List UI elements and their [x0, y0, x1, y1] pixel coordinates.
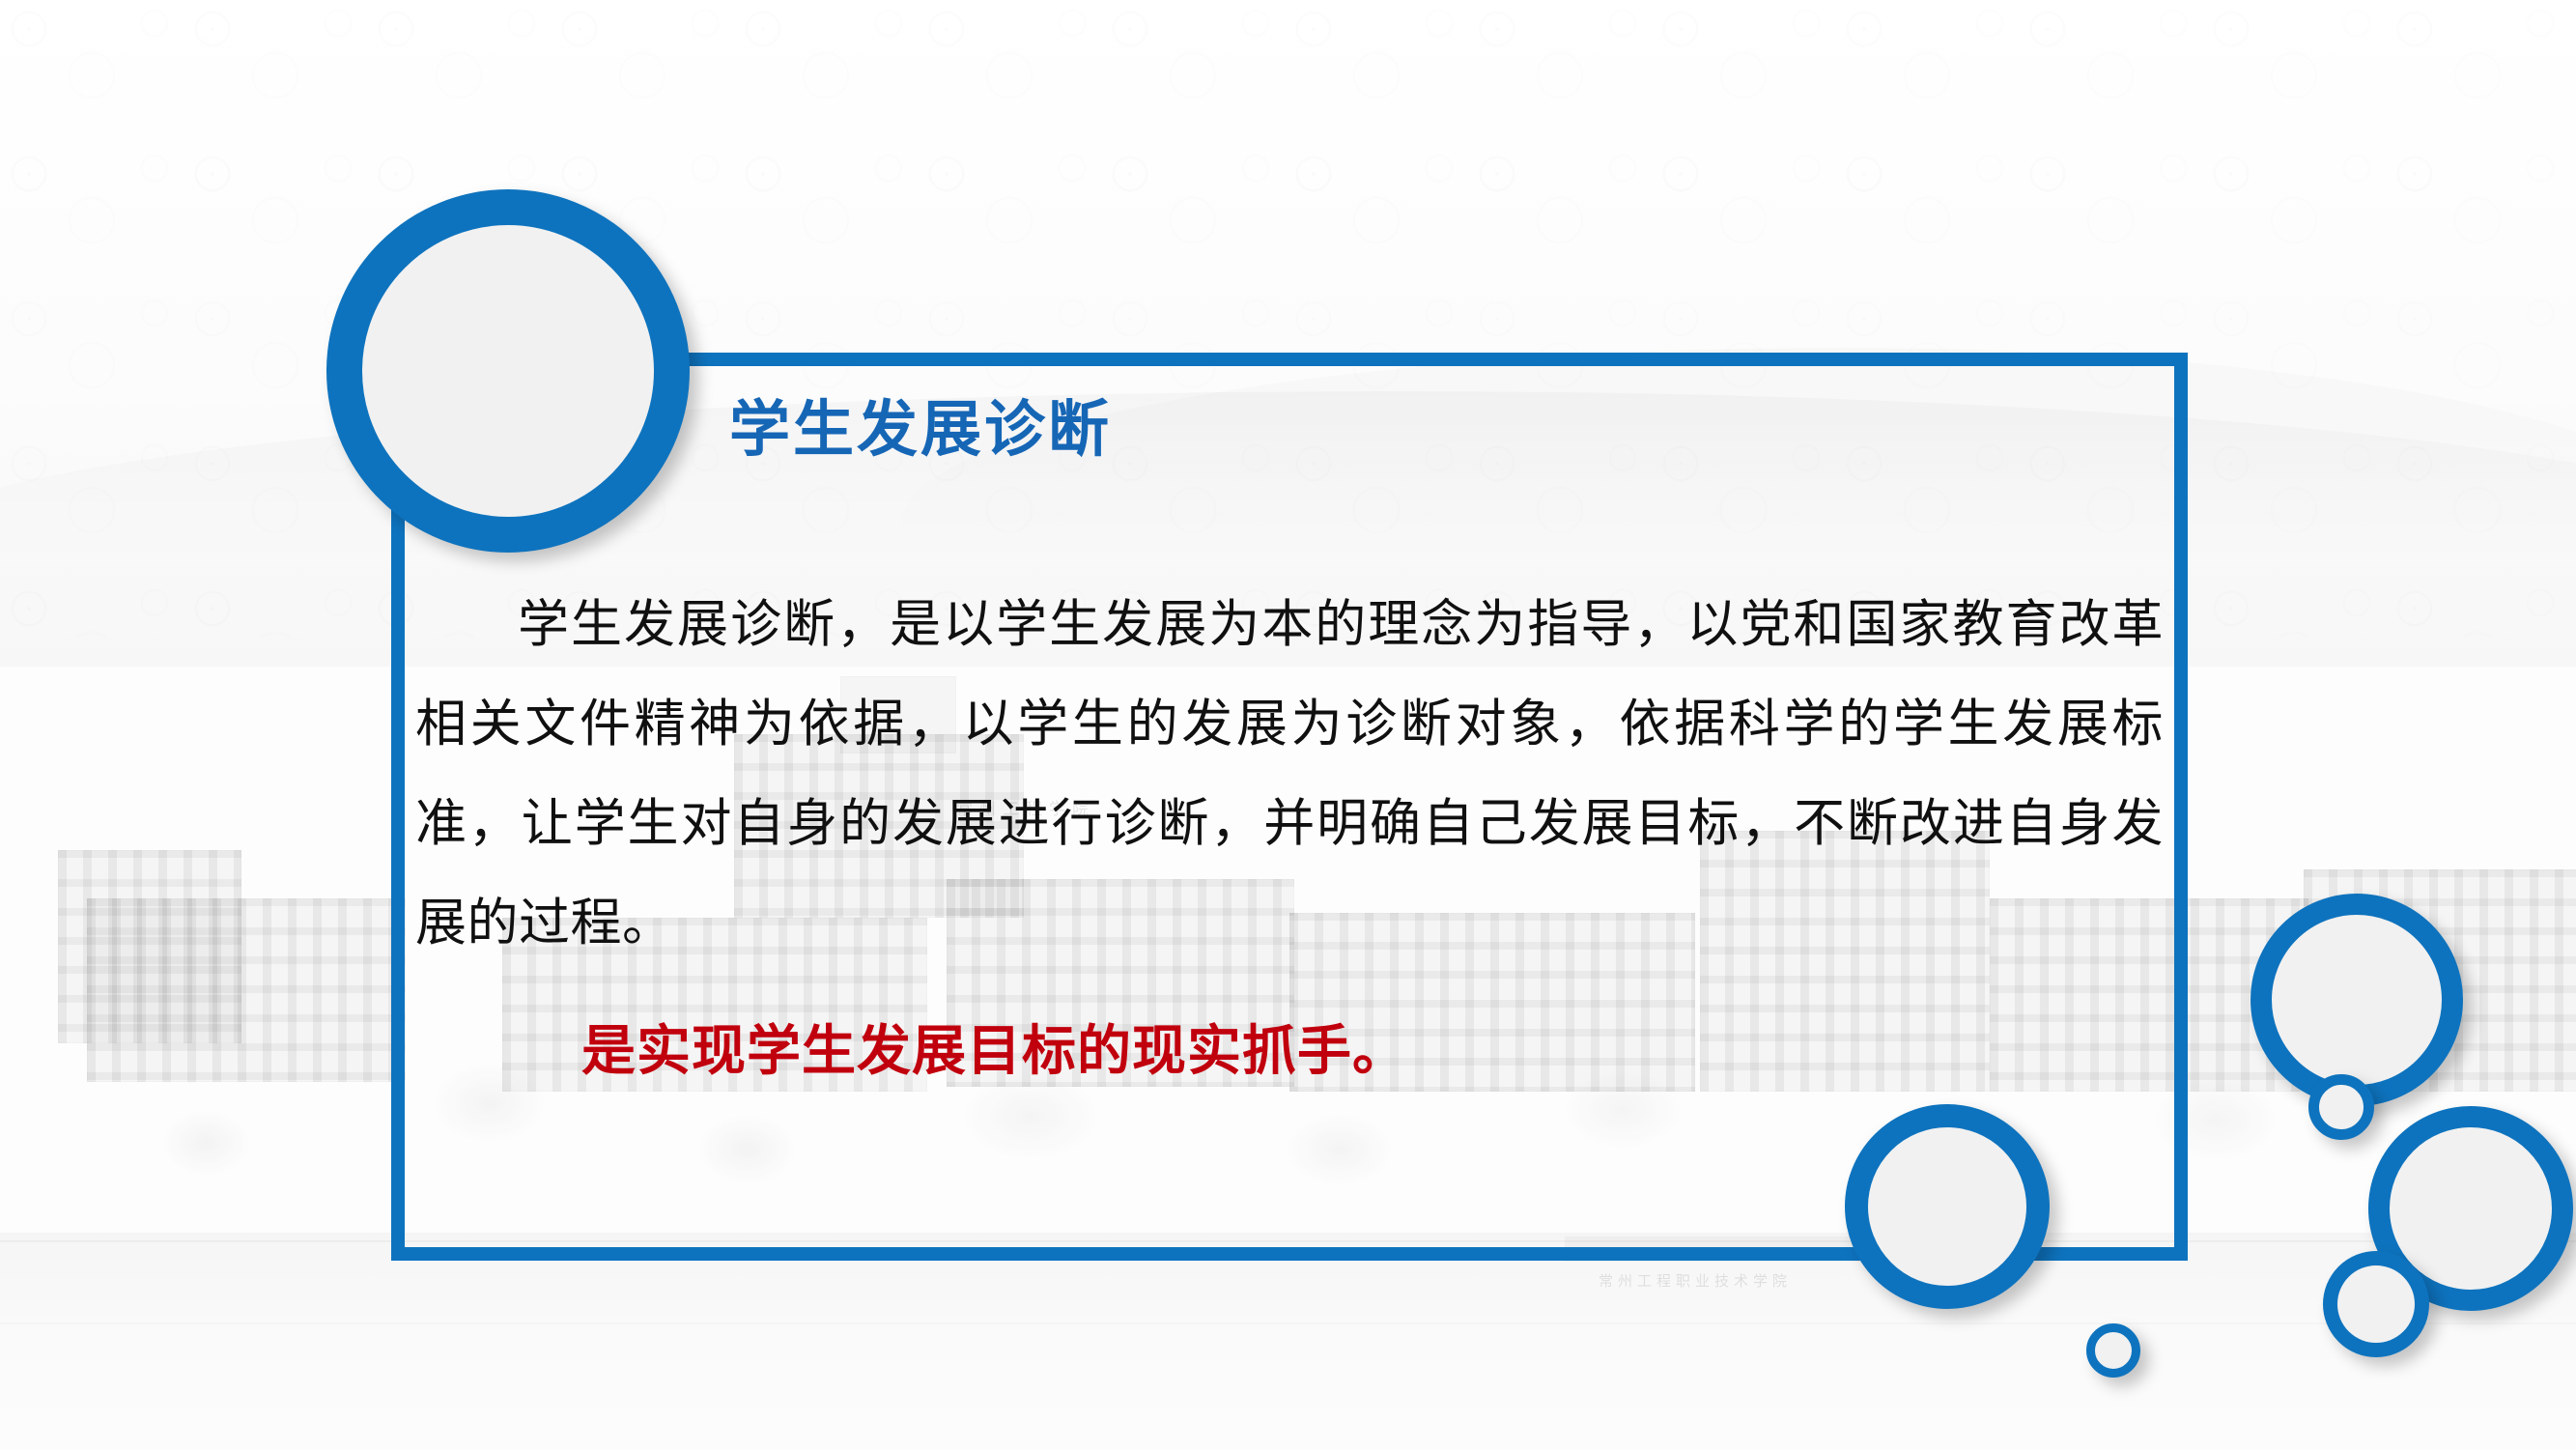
background-ground	[0, 1233, 2576, 1450]
content-block: 学生发展诊断 学生发展诊断，是以学生发展为本的理念为指导，以党和国家教育改革相关…	[415, 377, 2164, 1246]
background-building-2	[87, 898, 406, 1082]
background-plaza-sign-text: 常州工程职业技术学院	[1599, 1270, 1792, 1291]
emphasis-statement: 是实现学生发展目标的现实抓手。	[581, 1018, 1407, 1086]
slide-canvas: 常州工程学院 常州工程职业技术学院 学生发展诊断 学生发展诊断，是以学生发展为本…	[0, 0, 2576, 1450]
body-paragraph: 学生发展诊断，是以学生发展为本的理念为指导，以党和国家教育改革相关文件精神为依据…	[415, 575, 2164, 973]
background-building-1	[58, 850, 241, 1043]
decor-ring-right-small	[2323, 1251, 2429, 1357]
background-curb-line-2	[0, 1322, 2576, 1324]
decor-ring-bottom-tiny	[2086, 1323, 2140, 1378]
slide-title: 学生发展诊断	[729, 399, 1112, 460]
decor-ring-right-upper	[2250, 894, 2463, 1106]
decor-ring-right-tiny	[2308, 1074, 2374, 1140]
